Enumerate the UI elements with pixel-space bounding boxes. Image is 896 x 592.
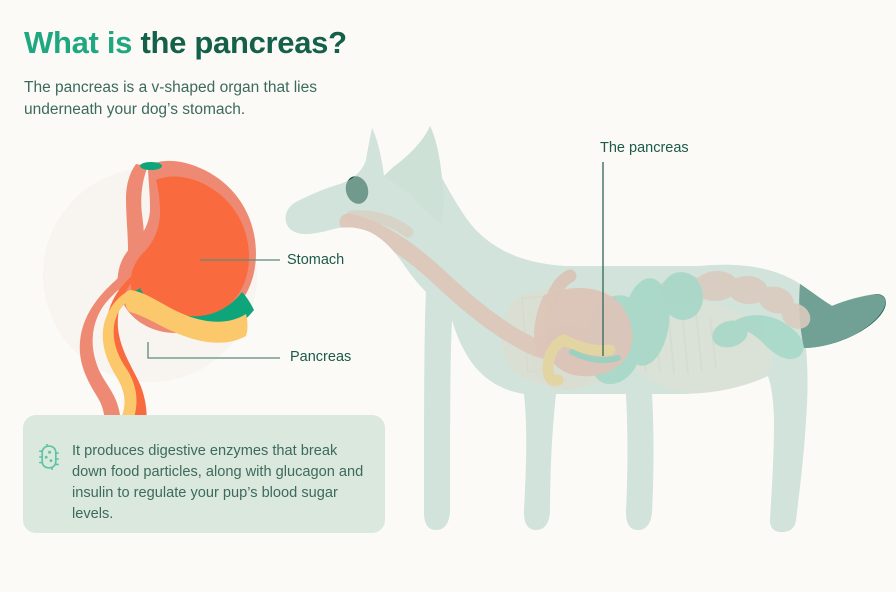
heading-block: What is the pancreas? The pancreas is a … (24, 26, 444, 121)
stomach-closeup-diagram (30, 150, 370, 450)
label-stomach: Stomach (287, 252, 344, 268)
callout-text: It produces digestive enzymes that break… (72, 441, 367, 526)
callout-box: It produces digestive enzymes that break… (23, 415, 385, 533)
page-title: What is the pancreas? (24, 26, 444, 61)
page-title-main: the pancreas? (140, 25, 346, 60)
enzyme-microbe-icon (38, 444, 60, 470)
infographic-canvas: What is the pancreas? The pancreas is a … (0, 0, 896, 592)
label-pancreas: Pancreas (290, 349, 351, 365)
page-subtitle: The pancreas is a v-shaped organ that li… (24, 77, 354, 121)
label-the-pancreas: The pancreas (600, 140, 689, 156)
page-title-accent: What is (24, 25, 132, 60)
esophagus-nub (140, 162, 162, 170)
